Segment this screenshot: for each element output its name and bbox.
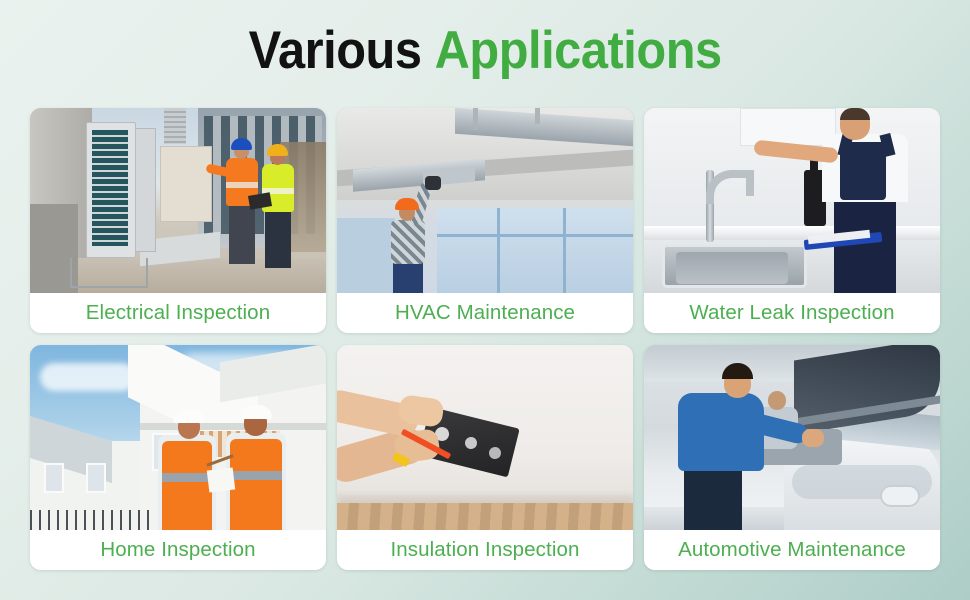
photo-water-leak-inspection <box>644 108 940 293</box>
photo-automotive-maintenance <box>644 345 940 530</box>
caption-automotive-maintenance: Automotive Maintenance <box>644 530 940 570</box>
page-header: Various Applications <box>0 0 970 100</box>
photo-hvac-maintenance <box>337 108 633 293</box>
application-card-automotive-maintenance[interactable]: Automotive Maintenance <box>644 345 940 570</box>
applications-grid: Electrical Inspection HVAC Maintenance <box>30 108 940 570</box>
photo-insulation-inspection <box>337 345 633 530</box>
photo-home-inspection <box>30 345 326 530</box>
caption-hvac-maintenance: HVAC Maintenance <box>337 293 633 333</box>
photo-electrical-inspection <box>30 108 326 293</box>
application-card-hvac-maintenance[interactable]: HVAC Maintenance <box>337 108 633 333</box>
page-title: Various Applications <box>248 24 721 77</box>
caption-electrical-inspection: Electrical Inspection <box>30 293 326 333</box>
application-card-home-inspection[interactable]: Home Inspection <box>30 345 326 570</box>
application-card-water-leak-inspection[interactable]: Water Leak Inspection <box>644 108 940 333</box>
application-card-electrical-inspection[interactable]: Electrical Inspection <box>30 108 326 333</box>
page-title-accent: Applications <box>434 21 721 80</box>
application-card-insulation-inspection[interactable]: Insulation Inspection <box>337 345 633 570</box>
page-title-plain: Various <box>248 21 421 80</box>
caption-insulation-inspection: Insulation Inspection <box>337 530 633 570</box>
caption-home-inspection: Home Inspection <box>30 530 326 570</box>
caption-water-leak-inspection: Water Leak Inspection <box>644 293 940 333</box>
